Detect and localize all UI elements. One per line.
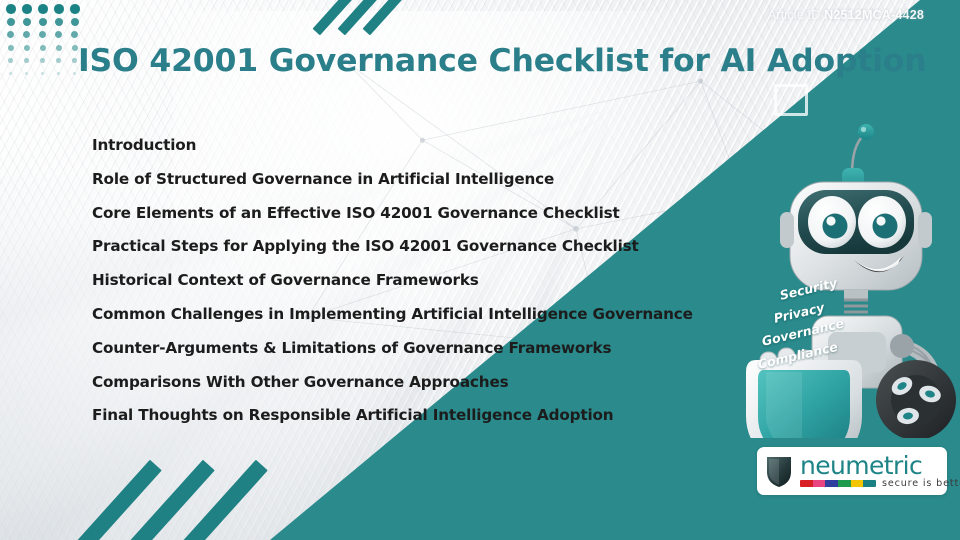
table-of-contents: IntroductionRole of Structured Governanc… [92,138,772,442]
grid-dot [39,18,47,26]
grid-dot [72,58,77,63]
toc-item[interactable]: Core Elements of an Effective ISO 42001 … [92,206,772,221]
toc-item[interactable]: Role of Structured Governance in Artific… [92,172,772,187]
grid-dot [38,4,48,14]
grid-dot [55,18,63,26]
grid-dot [8,45,14,51]
grid-dot [70,4,80,14]
diagonal-stripes-bottom [100,455,300,540]
grid-dot [8,58,13,63]
grid-dot [71,18,79,26]
grid-dot [24,45,30,51]
neumetric-logo[interactable]: neumetric secure is better [757,447,947,495]
logo-bar-segment [800,480,813,487]
logo-wordmark: neumetric [800,454,960,477]
grid-dot [7,18,15,26]
logo-shield-icon [765,454,793,488]
article-id: Article ID N2512MCA-4428 [768,8,924,22]
toc-item[interactable]: Practical Steps for Applying the ISO 420… [92,239,772,254]
logo-color-bar [800,480,876,487]
toc-item[interactable]: Historical Context of Governance Framewo… [92,273,772,288]
logo-bar-segment [863,480,876,487]
toc-item[interactable]: Common Challenges in Implementing Artifi… [92,307,772,322]
grid-dot [24,58,29,63]
logo-bar-segment [851,480,864,487]
logo-bar-segment [813,480,826,487]
grid-dot [54,4,64,14]
grid-dot [23,18,31,26]
grid-dot [40,45,46,51]
toc-item[interactable]: Final Thoughts on Responsible Artificial… [92,408,772,423]
logo-tagline: secure is better [882,478,960,489]
grid-dot [56,58,61,63]
grid-dot [6,4,16,14]
grid-dot [56,45,62,51]
toc-item[interactable]: Introduction [92,138,772,153]
robot-mascot-illustration [736,108,960,438]
page-title: ISO 42001 Governance Checklist for AI Ad… [78,43,926,79]
grid-dot [72,45,78,51]
logo-bar-segment [825,480,838,487]
article-id-label: Article ID [768,8,821,22]
slide-canvas: Article ID N2512MCA-4428 ISO 42001 Gover… [0,0,960,540]
toc-item[interactable]: Comparisons With Other Governance Approa… [92,375,772,390]
logo-bar-segment [838,480,851,487]
grid-dot [22,4,32,14]
toc-item[interactable]: Counter-Arguments & Limitations of Gover… [92,341,772,356]
diagonal-stripes-top [330,0,450,42]
grid-dot [40,58,45,63]
article-id-value: N2512MCA-4428 [824,8,924,22]
